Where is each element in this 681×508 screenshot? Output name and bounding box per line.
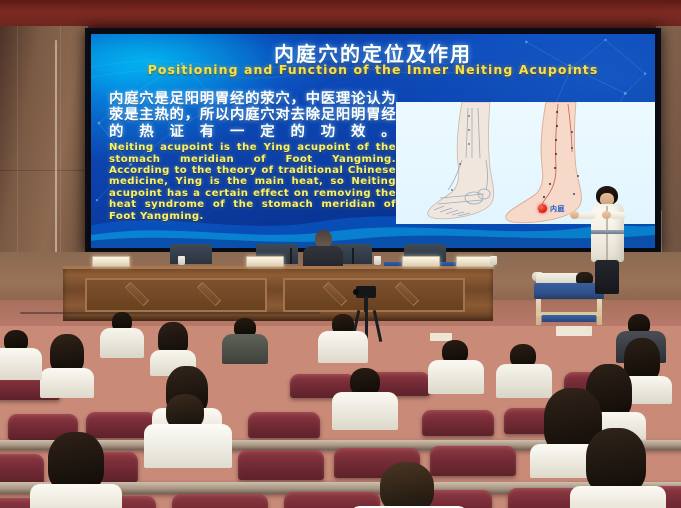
floor-cable-run — [20, 312, 320, 314]
demonstrator-right-hand — [602, 211, 611, 219]
desk-microphone-1 — [290, 248, 292, 264]
water-cup-1 — [178, 256, 185, 265]
torso — [100, 328, 144, 358]
torso — [40, 368, 94, 398]
seat — [238, 450, 324, 480]
head — [380, 462, 434, 508]
water-cup-3 — [490, 256, 497, 265]
slide-title-english: Positioning and Function of the Inner Ne… — [91, 62, 655, 77]
torso — [332, 392, 398, 430]
hair — [48, 432, 104, 492]
name-placard-4 — [456, 256, 494, 267]
torso — [0, 348, 42, 380]
chair-back-0 — [170, 244, 212, 264]
torso — [30, 484, 122, 508]
water-cup-2 — [374, 256, 381, 265]
seat — [422, 410, 494, 436]
neiting-acupoint-label: 内庭 — [550, 204, 565, 214]
paper-on-desk-1 — [556, 326, 592, 336]
torso — [496, 364, 552, 398]
slide-body-chinese: 内庭穴是足阳明胃经的荥穴，中医理论认为荥是主热的，所以内庭穴对去除足阳明胃经的热… — [109, 91, 396, 140]
led-presentation-screen: 内庭穴的定位及作用 Positioning and Function of th… — [85, 28, 661, 254]
name-placard-1 — [92, 256, 130, 267]
slide-body-english: Neiting acupoint is the Ying acupoint of… — [109, 142, 396, 222]
torso — [318, 331, 368, 363]
desk-microphone-2 — [352, 248, 354, 264]
torso — [428, 360, 484, 394]
name-placard-2 — [246, 256, 284, 267]
wall-cable-left — [55, 40, 57, 270]
demonstrator-belt — [591, 230, 624, 234]
demonstrator-trousers — [595, 260, 619, 294]
name-placard-3 — [402, 256, 440, 267]
hair — [586, 428, 646, 494]
seat — [172, 494, 268, 508]
seat — [248, 412, 320, 438]
torso — [144, 424, 232, 468]
lecture-hall-screenshot: 内庭穴的定位及作用 Positioning and Function of th… — [0, 0, 681, 508]
seat — [0, 454, 44, 484]
demonstrator-in-white-coat — [586, 186, 630, 296]
neiting-acupoint-marker-icon — [538, 204, 547, 213]
audience-area — [0, 300, 681, 508]
demonstrator-left-hand — [570, 211, 579, 219]
slide-text-column: 内庭穴是足阳明胃经的荥穴，中医理论认为荥是主热的，所以内庭穴对去除足阳明胃经的热… — [109, 91, 396, 222]
back-wall-upper — [0, 0, 681, 30]
demonstrator-right-arm — [610, 212, 626, 219]
seat — [430, 446, 516, 476]
seated-panelist — [303, 230, 343, 268]
demonstrator-left-arm — [576, 212, 596, 219]
wall-seam-c — [0, 170, 88, 171]
torso — [570, 486, 666, 508]
panelist-torso — [303, 246, 343, 268]
torso — [222, 334, 268, 364]
